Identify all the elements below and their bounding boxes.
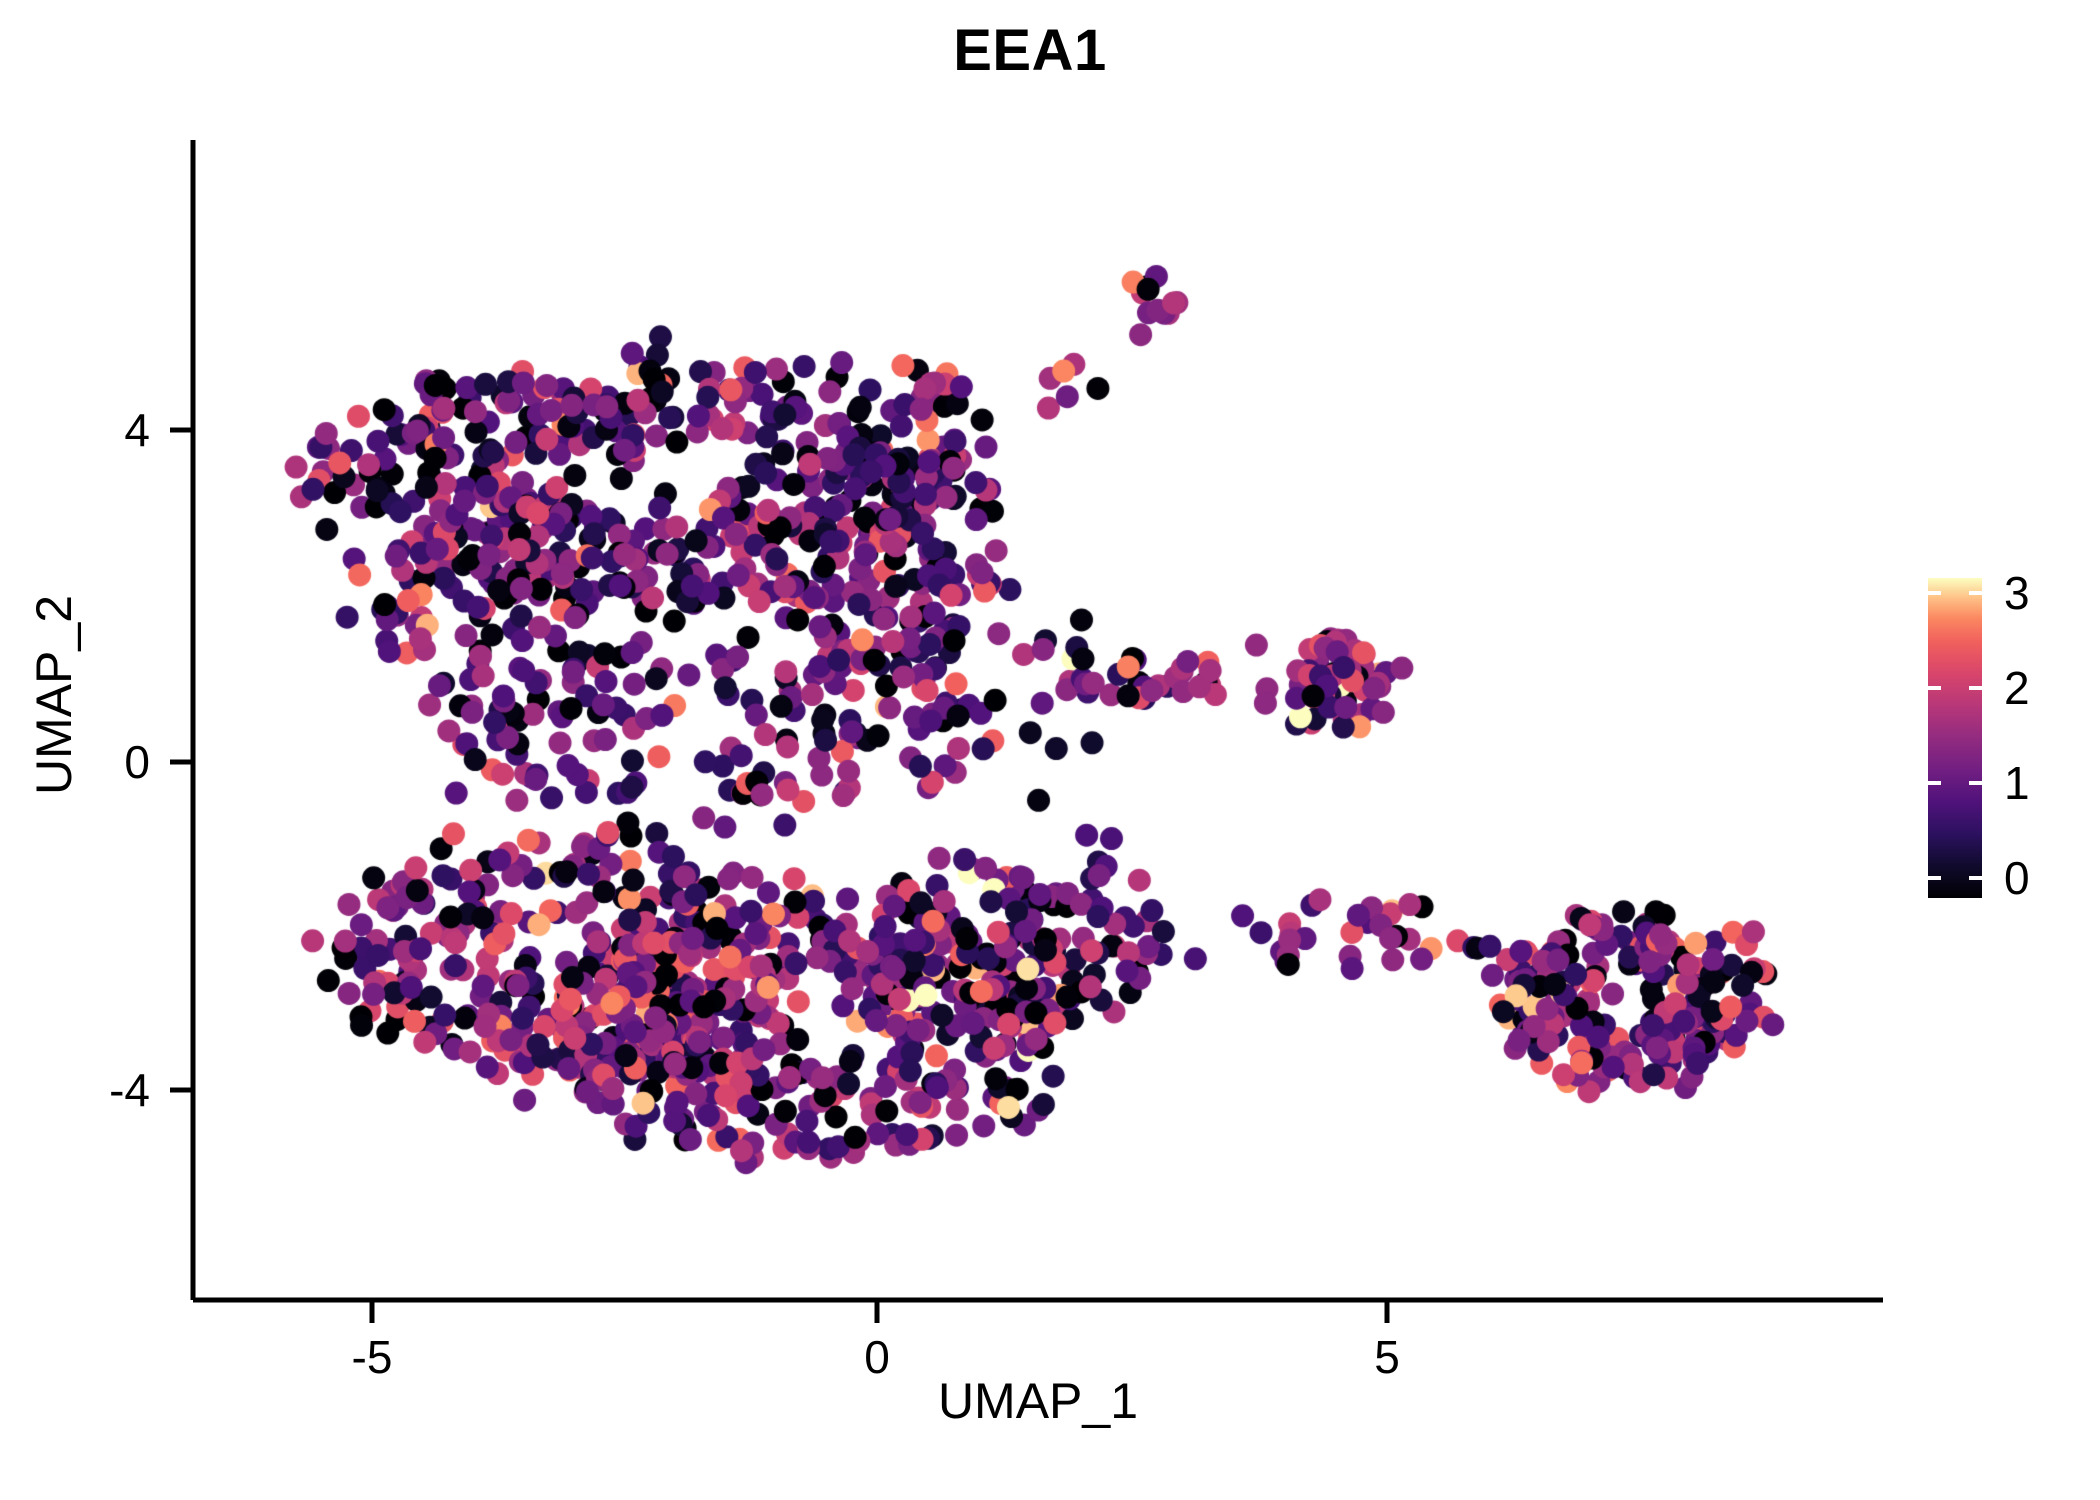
- colorbar-tick-1-left: [1928, 781, 1941, 785]
- colorbar-gradient: [1928, 578, 1982, 898]
- colorbar-tick-0-right: [1969, 876, 1982, 880]
- x-tick-label-5: 5: [1374, 1334, 1400, 1380]
- colorbar-tick-2-right: [1969, 686, 1982, 690]
- colorbar-tick-2-left: [1928, 686, 1941, 690]
- y-axis-title: UMAP_2: [29, 295, 79, 1095]
- x-axis-title: UMAP_1: [193, 1376, 1883, 1426]
- colorbar-label-1: 1: [2004, 760, 2030, 806]
- colorbar-legend: 3 2 1 0: [1928, 578, 1982, 898]
- x-tick-label-minus-5: -5: [352, 1334, 393, 1380]
- colorbar-label-2: 2: [2004, 665, 2030, 711]
- colorbar-label-3: 3: [2004, 570, 2030, 616]
- colorbar-tick-3-left: [1928, 591, 1941, 595]
- x-tick-label-0: 0: [864, 1334, 890, 1380]
- umap-feature-plot: EEA1 4 0 -4 -5 0 5 UMAP_1 UMAP_2 3 2 1 0: [0, 0, 2100, 1500]
- colorbar-label-0: 0: [2004, 855, 2030, 901]
- colorbar-tick-1-right: [1969, 781, 1982, 785]
- colorbar-tick-0-left: [1928, 876, 1941, 880]
- colorbar-tick-3-right: [1969, 591, 1982, 595]
- scatter-plot-canvas: [0, 0, 2100, 1500]
